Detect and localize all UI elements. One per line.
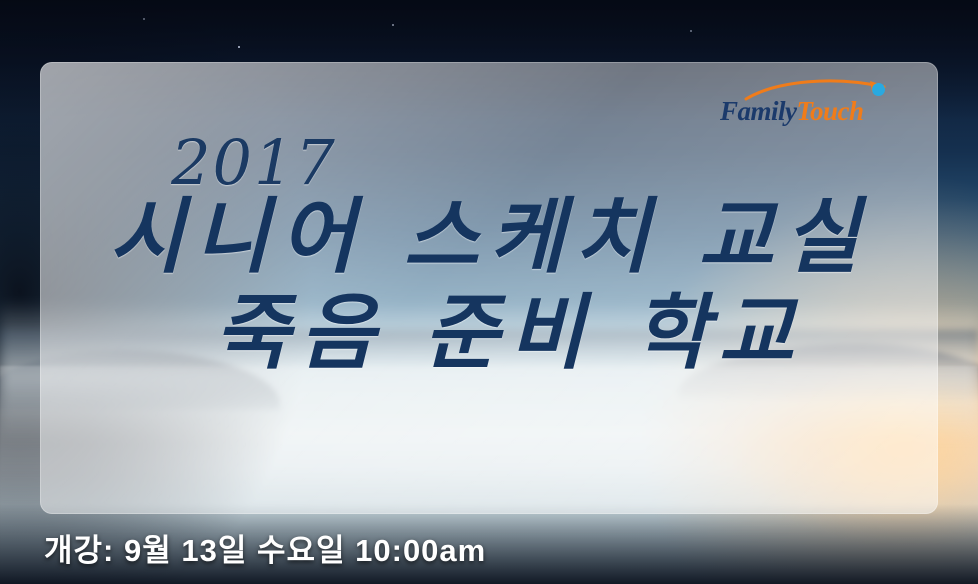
star-icon xyxy=(143,18,145,20)
headline-year: 2017 xyxy=(0,132,938,194)
schedule-text: 개강: 9월 13일 수요일 10:00am xyxy=(44,525,486,570)
headline-block: 2017 시니어 스케치 교실 죽음 준비 학교 xyxy=(40,132,938,381)
content-card: FamilyTouch 2017 시니어 스케치 교실 죽음 준비 학교 xyxy=(40,62,938,514)
blue-dot-icon xyxy=(872,83,885,96)
headline-line-2: 죽음 준비 학교 xyxy=(80,286,938,380)
logo-family-text: Family xyxy=(720,96,797,126)
star-icon xyxy=(392,24,394,26)
star-icon xyxy=(238,46,240,48)
family-touch-logo: FamilyTouch xyxy=(720,78,920,134)
logo-touch-text: Touch xyxy=(797,96,864,126)
logo-wordmark: FamilyTouch xyxy=(720,96,864,127)
star-icon xyxy=(690,30,692,32)
poster-canvas: FamilyTouch 2017 시니어 스케치 교실 죽음 준비 학교 개강:… xyxy=(0,0,978,584)
headline-line-1: 시니어 스케치 교실 xyxy=(40,190,938,284)
